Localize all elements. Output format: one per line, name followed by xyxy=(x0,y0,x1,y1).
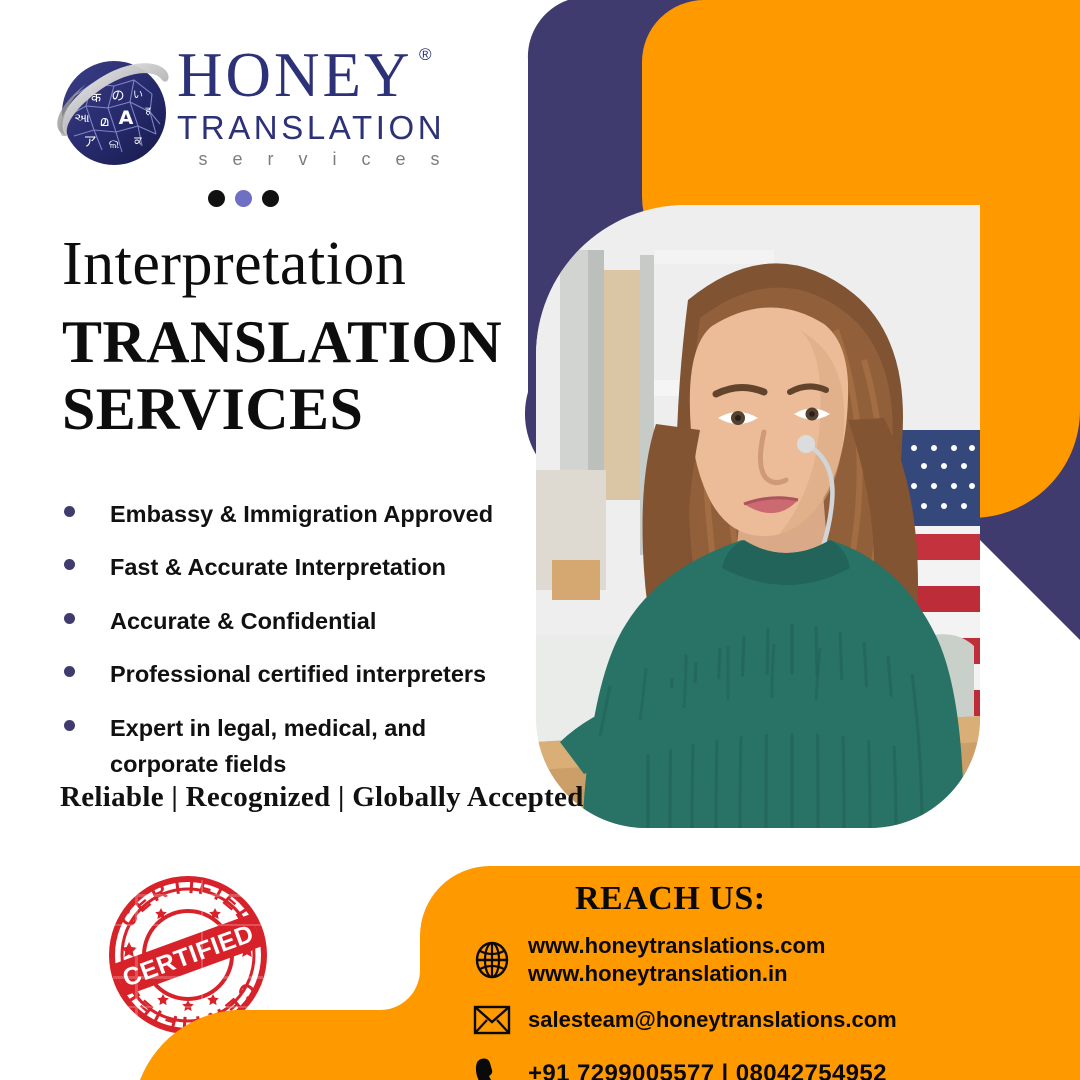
list-item-label: Professional certified interpreters xyxy=(110,656,486,692)
svg-text:ଲ: ଲ xyxy=(109,137,120,151)
svg-text:ह: ह xyxy=(145,106,151,117)
orange-decorative-shape xyxy=(642,0,1080,518)
svg-text:い: い xyxy=(133,90,143,101)
purple-decorative-shape xyxy=(525,0,1080,640)
svg-text:A: A xyxy=(119,107,134,129)
svg-text:ア: ア xyxy=(83,135,96,150)
list-item-label: Embassy & Immigration Approved xyxy=(110,496,493,532)
dot-1 xyxy=(208,190,225,207)
bullet-dot-icon xyxy=(64,613,75,624)
list-item: Embassy & Immigration Approved xyxy=(56,496,536,532)
list-item-label: Accurate & Confidential xyxy=(110,603,376,639)
dot-2 xyxy=(235,190,252,207)
envelope-icon xyxy=(470,998,514,1042)
phone-icon xyxy=(470,1052,514,1080)
headline-script-line: Interpretation xyxy=(62,232,532,297)
phone-text: +91 7299005577 | 08042754952 xyxy=(528,1059,887,1080)
list-item: Fast & Accurate Interpretation xyxy=(56,549,536,585)
headline-main-line-1: TRANSLATION xyxy=(62,309,532,376)
registered-mark-icon: ® xyxy=(419,46,435,63)
logo-translation-text: TRANSLATION xyxy=(177,109,477,148)
bullet-dot-icon xyxy=(64,720,75,731)
svg-text:આ: આ xyxy=(74,111,89,125)
bullet-dot-icon xyxy=(64,666,75,677)
contact-row-website[interactable]: www.honeytranslations.com www.honeytrans… xyxy=(470,932,1070,988)
headline-main-line-2: SERVICES xyxy=(62,376,532,443)
poster-canvas: क の い આ മ A ह ア ଲ ਕ HONEY ® TRANSLATION … xyxy=(0,0,1080,1080)
logo-services-text: s e r v i c e s xyxy=(177,148,477,171)
svg-text:の: の xyxy=(111,89,124,104)
headline-block: Interpretation TRANSLATION SERVICES xyxy=(62,232,532,443)
svg-text:മ: മ xyxy=(100,114,109,130)
list-item: Accurate & Confidential xyxy=(56,603,536,639)
website-line-1: www.honeytranslations.com xyxy=(528,933,825,958)
svg-text:ਕ: ਕ xyxy=(133,134,142,147)
brand-logo[interactable]: क の い આ മ A ह ア ଲ ਕ HONEY ® TRANSLATION … xyxy=(52,44,472,184)
list-item: Professional certified interpreters xyxy=(56,656,536,692)
tagline: Reliable | Recognized | Globally Accepte… xyxy=(60,781,584,814)
logo-wordmark: HONEY ® TRANSLATION s e r v i c e s xyxy=(177,44,477,171)
contact-details: REACH US: www.honeytra xyxy=(470,880,1070,1080)
list-item: Expert in legal, medical, and corporate … xyxy=(56,710,536,783)
decorative-dots xyxy=(208,190,279,207)
feature-list: Embassy & Immigration Approved Fast & Ac… xyxy=(56,496,536,800)
contact-row-phone[interactable]: +91 7299005577 | 08042754952 xyxy=(470,1052,1070,1080)
website-text: www.honeytranslations.com www.honeytrans… xyxy=(528,932,825,988)
email-text: salesteam@honeytranslations.com xyxy=(528,1006,897,1034)
bullet-dot-icon xyxy=(64,559,75,570)
contact-panel: REACH US: www.honeytra xyxy=(0,866,1080,1080)
website-line-2: www.honeytranslation.in xyxy=(528,961,788,986)
interpreter-photo xyxy=(536,205,980,830)
list-item-label: Expert in legal, medical, and corporate … xyxy=(110,710,470,783)
logo-honey-text: HONEY xyxy=(177,40,412,110)
list-item-label: Fast & Accurate Interpretation xyxy=(110,549,446,585)
reach-us-title: REACH US: xyxy=(575,880,1070,918)
contact-row-email[interactable]: salesteam@honeytranslations.com xyxy=(470,998,1070,1042)
dot-3 xyxy=(262,190,279,207)
globe-languages-icon: क の い આ മ A ह ア ଲ ਕ xyxy=(52,50,174,172)
white-notch xyxy=(880,320,1080,520)
globe-icon xyxy=(470,938,514,982)
bullet-dot-icon xyxy=(64,506,75,517)
